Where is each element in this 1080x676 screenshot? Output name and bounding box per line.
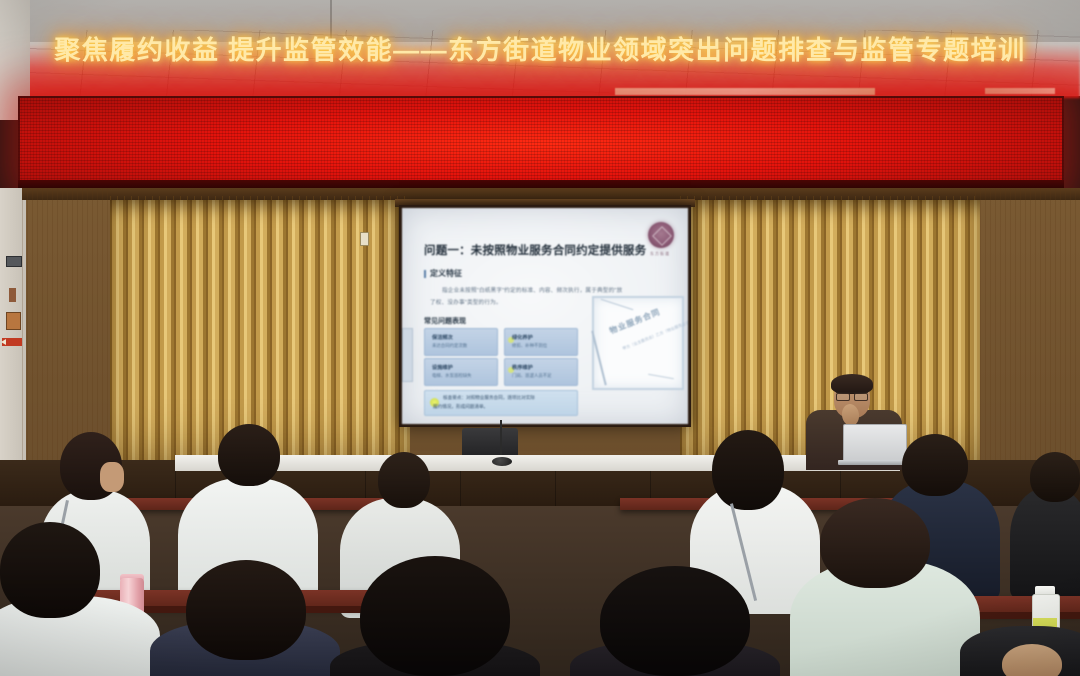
fire-extinguisher-icon	[6, 312, 21, 330]
attendee-4-head	[712, 430, 784, 510]
slide-note-line-2: 履约情况，形成问题清单。	[433, 404, 488, 410]
ceiling-light-strip	[615, 88, 875, 95]
microphone-base-icon	[492, 457, 512, 466]
slide-box-4: 秩序维护 门岗、巡逻人员不足	[504, 358, 578, 386]
document-fold-line-2	[591, 331, 606, 386]
led-banner-frame	[18, 96, 1064, 188]
emblem-caption: 东方街道	[644, 251, 676, 257]
slide-section-heading-2: 常见问题表现	[424, 316, 466, 326]
exit-arrow-sign-icon	[2, 338, 22, 346]
attendee-6-head	[1030, 452, 1080, 502]
presenter-laptop	[843, 424, 907, 464]
slide-box-3-subtitle: 电梯、水泵巡检缺失	[432, 373, 472, 379]
wood-panel-right	[975, 188, 1080, 488]
slide-side-tab	[402, 328, 413, 382]
presenter-laptop-base	[838, 460, 910, 465]
attendee-6-body	[1010, 488, 1080, 598]
slide-section-heading-1: 定义特征	[430, 268, 462, 279]
slide-body-line-1: 指企业未按照"白纸黑字"约定的标准、内容、频次执行，属于典型的"放	[442, 286, 622, 294]
wall-switch-panel-icon[interactable]	[6, 256, 22, 267]
slide-note-box: 核查要点：对照物业服务合同，逐项比对实际 履约情况，形成问题清单。	[424, 390, 578, 416]
slide-box-4-subtitle: 门岗、巡逻人员不足	[512, 373, 552, 379]
ceiling-light-strip-right	[985, 88, 1055, 94]
contract-document-image: 物业服务合同 甲方（业主委员会）乙方（物业服务企业）	[592, 296, 684, 390]
attendee-3-head	[378, 452, 430, 508]
attendee-12-hand	[1002, 644, 1062, 676]
attendee-7-head	[0, 522, 100, 618]
presenter-hair	[831, 374, 873, 394]
slide-box-1-subtitle: 未达合同约定次数	[432, 343, 467, 349]
slide-box-4-title: 秩序维护	[512, 364, 533, 371]
slide-box-2-title: 绿化养护	[512, 334, 533, 341]
attendee-2-head	[218, 424, 280, 486]
slide-box-2: 绿化养护 修剪、补种不到位	[504, 328, 578, 356]
slide-box-3-title: 设施维护	[432, 364, 453, 371]
projected-slide: 东方街道 问题一：未按照物业服务合同约定提供服务 定义特征 指企业未按照"白纸黑…	[402, 208, 688, 424]
eyeglasses-icon	[836, 392, 868, 399]
chair-center	[462, 428, 518, 458]
slide-box-1: 保洁频次 未达合同约定次数	[424, 328, 498, 356]
document-fold-line-1	[601, 299, 634, 310]
head-table-top	[175, 455, 900, 471]
conference-room-photo: 聚焦履约收益 提升监管效能——东方街道物业领域突出问题排查与监管专题培训 东方街…	[0, 0, 1080, 676]
wall-mounted-switch[interactable]	[360, 232, 369, 246]
document-fold-line-3	[648, 374, 674, 379]
slide-box-3: 设施维护 电梯、水泵巡检缺失	[424, 358, 498, 386]
attendee-8-head	[186, 560, 306, 660]
section-marker-1	[424, 270, 426, 278]
wall-bracket-icon	[9, 288, 16, 302]
slide-body-line-2: 了权、没办事"类型的行为。	[430, 298, 502, 306]
slide-box-2-subtitle: 修剪、补种不到位	[512, 343, 547, 349]
attendee-5-head	[902, 434, 968, 496]
attendee-11-head	[820, 498, 930, 588]
projection-screen: 东方街道 问题一：未按照物业服务合同约定提供服务 定义特征 指企业未按照"白纸黑…	[399, 205, 691, 427]
attendee-1-hand	[100, 462, 124, 492]
attendee-9-head	[360, 556, 510, 676]
organization-emblem-icon	[648, 222, 674, 248]
slide-box-1-title: 保洁频次	[432, 334, 453, 341]
slide-note-line-1: 核查要点：对照物业服务合同，逐项比对实际	[443, 395, 535, 401]
slide-title: 问题一：未按照物业服务合同约定提供服务	[424, 242, 646, 258]
led-banner-text: 聚焦履约收益 提升监管效能——东方街道物业领域突出问题排查与监管专题培训	[0, 30, 1080, 67]
attendee-10-head	[600, 566, 750, 676]
